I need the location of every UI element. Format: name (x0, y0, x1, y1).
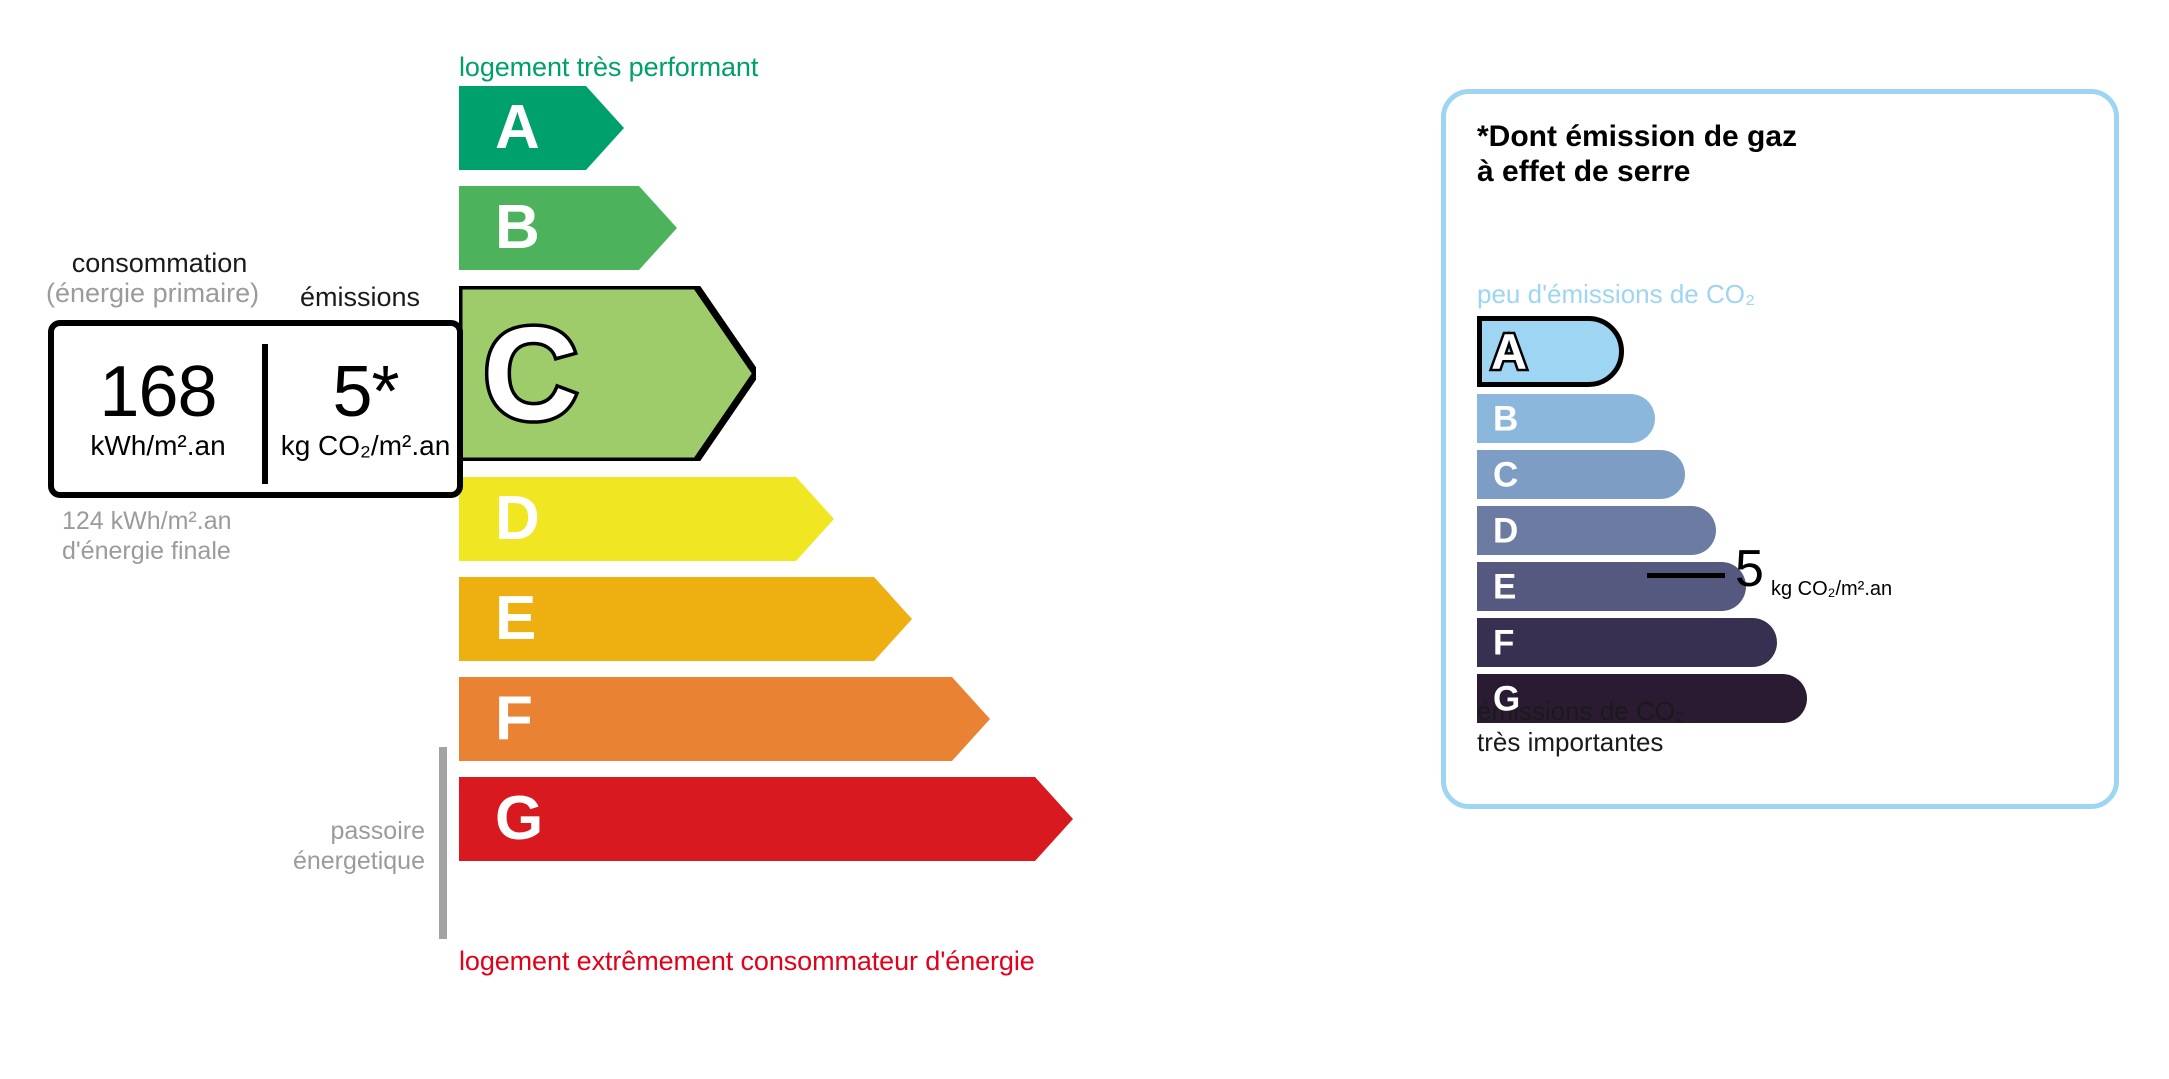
passoire-line-1: passoire (331, 817, 426, 845)
co2-value: 5 (1735, 543, 1764, 595)
dpe-value-box: 168 kWh/m².an 5* kg CO₂/m².an (48, 320, 463, 498)
dpe-bottom-caption: logement extrêmement consommateur d'éner… (459, 946, 1035, 977)
co2-leader-line (1647, 573, 1725, 578)
final-energy-note: 124 kWh/m².an d'énergie finale (62, 506, 232, 566)
dpe-band-letter-f: F (495, 688, 533, 750)
energy-performance-panel: logement très performant ABCDEFG passoir… (0, 0, 1400, 1079)
dpe-band-f[interactable]: F (459, 677, 990, 761)
dpe-band-arrow-a (459, 86, 624, 170)
consommation-label: consommation (énergie primaire) (62, 248, 257, 308)
primary-energy-cell: 168 kWh/m².an (54, 326, 262, 492)
co2-bar-c[interactable]: C (1477, 450, 1685, 499)
final-energy-line-1: 124 kWh/m².an (62, 507, 232, 535)
passoire-energetique-label: passoire énergetique (200, 817, 425, 876)
dpe-band-arrow-f (459, 677, 990, 761)
co2-bar-letter-g: G (1493, 681, 1520, 716)
dpe-band-letter-c: C (483, 308, 578, 440)
consommation-main: consommation (72, 248, 248, 278)
dpe-band-c[interactable]: C (459, 286, 756, 461)
dpe-top-caption: logement très performant (459, 52, 758, 83)
dpe-band-arrow-b (459, 186, 677, 270)
co2-bar-fill-e (1477, 562, 1746, 611)
dpe-band-d[interactable]: D (459, 477, 834, 561)
dpe-band-a[interactable]: A (459, 86, 624, 170)
co2-bar-letter-b: B (1493, 401, 1518, 436)
dpe-band-g[interactable]: G (459, 777, 1073, 861)
passoire-line-2: énergetique (293, 847, 425, 875)
co2-emissions-panel: *Dont émission de gaz à effet de serre p… (1441, 89, 2119, 809)
co2-bar-letter-a: A (1491, 327, 1527, 377)
co2-bar-f[interactable]: F (1477, 618, 1777, 667)
co2-bar-e[interactable]: E (1477, 562, 1746, 611)
co2-bar-a[interactable]: A (1477, 316, 1624, 387)
dpe-band-arrow-g (459, 777, 1073, 861)
dpe-band-letter-a: A (495, 97, 540, 159)
co2-bar-letter-d: D (1493, 513, 1518, 548)
co2-bar-letter-e: E (1493, 569, 1516, 604)
passoire-energetique-marker (439, 747, 447, 939)
co2-bar-b[interactable]: B (1477, 394, 1655, 443)
dpe-band-b[interactable]: B (459, 186, 677, 270)
co2-value-unit: kg CO₂/m².an (1771, 578, 1892, 601)
dpe-band-letter-e: E (495, 588, 536, 650)
dpe-band-e[interactable]: E (459, 577, 912, 661)
consommation-sub: (énergie primaire) (46, 278, 257, 308)
co2-bar-letter-c: C (1493, 457, 1518, 492)
final-energy-line-2: d'énergie finale (62, 537, 231, 565)
emissions-label: émissions (300, 282, 420, 313)
co2-bar-list: GFEDCBA 5 kg CO₂/m².an (1477, 316, 2097, 696)
co2-panel-title: *Dont émission de gaz à effet de serre (1477, 119, 1797, 190)
dpe-band-letter-g: G (495, 788, 543, 850)
co2-bar-fill-f (1477, 618, 1777, 667)
primary-energy-unit: kWh/m².an (90, 432, 225, 460)
primary-energy-value: 168 (99, 358, 216, 426)
co2-emission-unit: kg CO₂/m².an (281, 432, 451, 460)
co2-top-caption: peu d'émissions de CO₂ (1477, 279, 1755, 310)
co2-bar-letter-f: F (1493, 625, 1514, 660)
co2-bar-d[interactable]: D (1477, 506, 1716, 555)
co2-emission-value: 5* (332, 358, 398, 426)
dpe-band-letter-b: B (495, 197, 540, 259)
co2-emission-cell: 5* kg CO₂/m².an (268, 326, 463, 492)
dpe-band-list: ABCDEFG (459, 86, 1279, 936)
dpe-band-letter-d: D (495, 488, 540, 550)
